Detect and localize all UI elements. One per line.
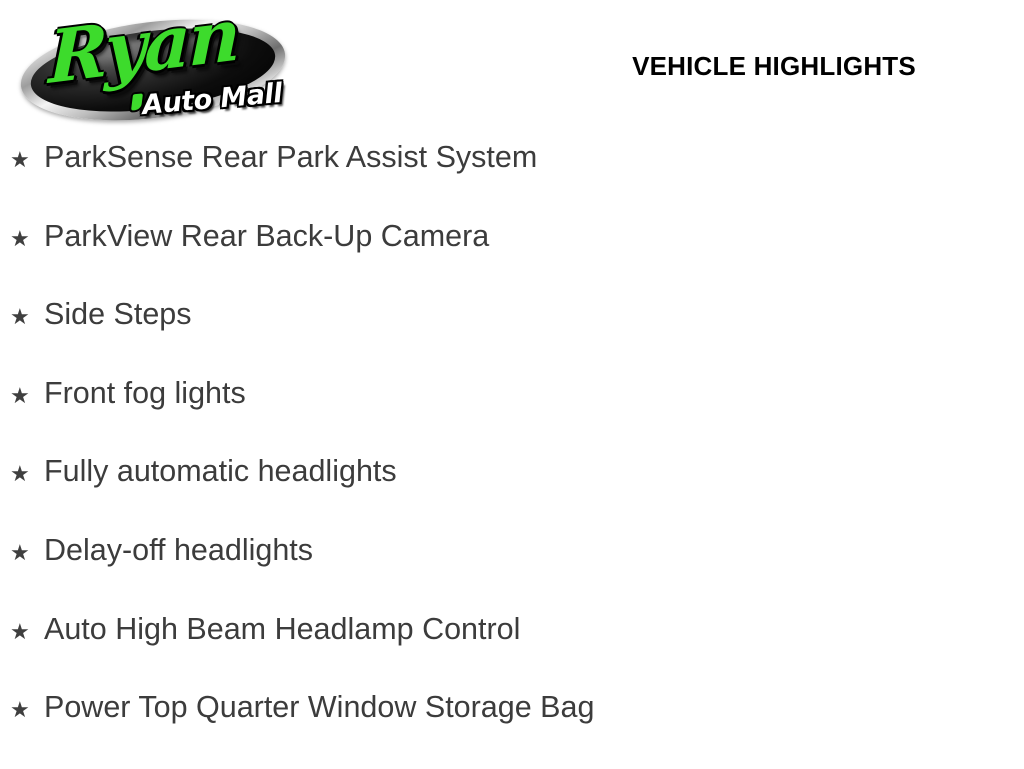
list-item: ★ Side Steps [0,297,1024,376]
star-icon: ★ [10,694,44,728]
star-icon: ★ [10,616,44,650]
logo-brand-text: Ryan [48,0,239,94]
list-item: ★ Auto High Beam Headlamp Control [0,612,1024,691]
list-item-label: ParkView Rear Back-Up Camera [44,219,489,253]
star-icon: ★ [10,301,44,335]
list-item: ★ Front fog lights [0,376,1024,455]
list-item: ★ ParkSense Rear Park Assist System [0,140,1024,219]
vehicle-highlights-page: Ryan Auto Mall VEHICLE HIGHLIGHTS ★ Park… [0,0,1024,768]
star-icon: ★ [10,144,44,178]
list-item-label: Auto High Beam Headlamp Control [44,612,520,646]
list-item-label: Delay-off headlights [44,533,313,567]
list-item-label: Power Top Quarter Window Storage Bag [44,690,594,724]
list-item: ★ Delay-off headlights [0,533,1024,612]
list-item: ★ Power Top Quarter Window Storage Bag [0,690,1024,769]
star-icon: ★ [10,458,44,492]
vehicle-highlights-list: ★ ParkSense Rear Park Assist System ★ Pa… [0,140,1024,769]
ryan-auto-mall-logo: Ryan Auto Mall [20,8,288,120]
list-item-label: Fully automatic headlights [44,454,397,488]
list-item-label: ParkSense Rear Park Assist System [44,140,537,174]
star-icon: ★ [10,380,44,414]
list-item-label: Front fog lights [44,376,246,410]
star-icon: ★ [10,537,44,571]
page-title: VEHICLE HIGHLIGHTS [560,50,988,82]
list-item: ★ ParkView Rear Back-Up Camera [0,219,1024,298]
list-item-label: Side Steps [44,297,192,331]
list-item: ★ Fully automatic headlights [0,454,1024,533]
page-header: Ryan Auto Mall VEHICLE HIGHLIGHTS [0,0,1024,130]
star-icon: ★ [10,223,44,257]
